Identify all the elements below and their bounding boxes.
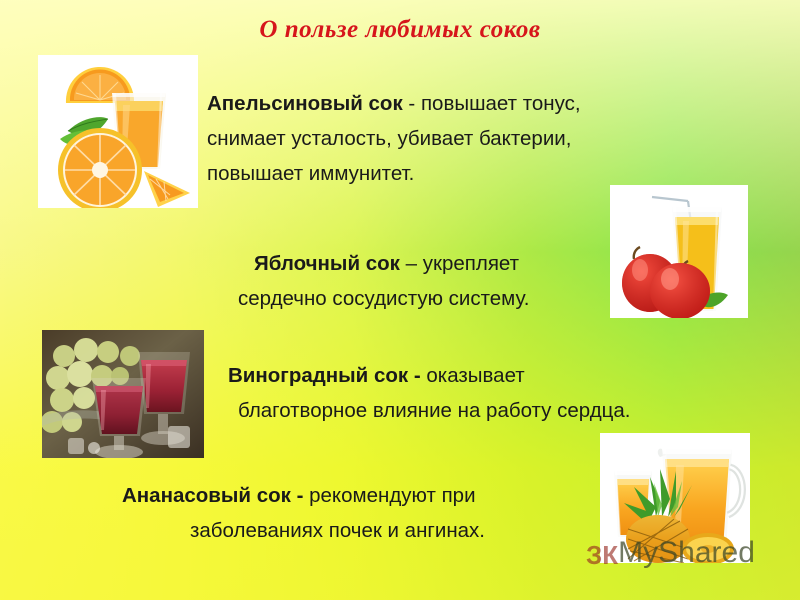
paragraph-pineapple-juice-line-1: Ананасовый сок - рекомендуют при [122, 478, 485, 513]
paragraph-pineapple-juice-line-1-rest: рекомендуют при [309, 484, 475, 507]
dash-orange: - [403, 92, 421, 115]
grape-juice-illustration [42, 330, 204, 458]
paragraph-pineapple-juice: Ананасовый сок - рекомендуют при заболев… [122, 478, 485, 548]
slide-canvas: О пользе любимых соков [0, 0, 800, 600]
paragraph-apple-juice: Яблочный сок – укрепляет сердечно сосуди… [228, 246, 529, 316]
pineapple-juice-photo [600, 433, 750, 563]
paragraph-apple-juice-line-2: сердечно сосудистую систему. [228, 281, 529, 316]
term-pineapple-juice: Ананасовый сок - [122, 484, 303, 507]
paragraph-orange-juice-line-3: повышает иммунитет. [207, 156, 581, 191]
orange-juice-photo [38, 55, 198, 208]
paragraph-orange-juice-line-1-rest: повышает тонус, [421, 92, 581, 115]
page-title: О пользе любимых соков [0, 16, 800, 44]
grape-juice-photo [42, 330, 204, 458]
paragraph-apple-juice-line-1: Яблочный сок – укрепляет [228, 246, 529, 281]
paragraph-pineapple-juice-line-2: заболеваниях почек и ангинах. [122, 513, 485, 548]
paragraph-grape-juice-line-1-rest: оказывает [426, 364, 524, 387]
paragraph-grape-juice-line-2: благотворное влияние на работу сердца. [228, 393, 631, 428]
term-apple-juice: Яблочный сок [254, 252, 400, 275]
dash-apple: – [400, 252, 423, 275]
apple-juice-photo [610, 185, 748, 318]
pineapple-juice-illustration [600, 433, 750, 563]
paragraph-orange-juice: Апельсиновый сок - повышает тонус, снима… [207, 86, 581, 191]
paragraph-apple-juice-line-1-rest: укрепляет [423, 252, 519, 275]
paragraph-grape-juice-line-1: Виноградный сок - оказывает [228, 358, 631, 393]
apple-juice-illustration [610, 185, 748, 318]
term-orange-juice: Апельсиновый сок [207, 92, 403, 115]
paragraph-grape-juice: Виноградный сок - оказывает благотворное… [228, 358, 631, 428]
orange-juice-illustration [38, 55, 198, 208]
paragraph-orange-juice-line-2: снимает усталость, убивает бактерии, [207, 121, 581, 156]
term-grape-juice: Виноградный сок - [228, 364, 421, 387]
paragraph-orange-juice-line-1: Апельсиновый сок - повышает тонус, [207, 86, 581, 121]
